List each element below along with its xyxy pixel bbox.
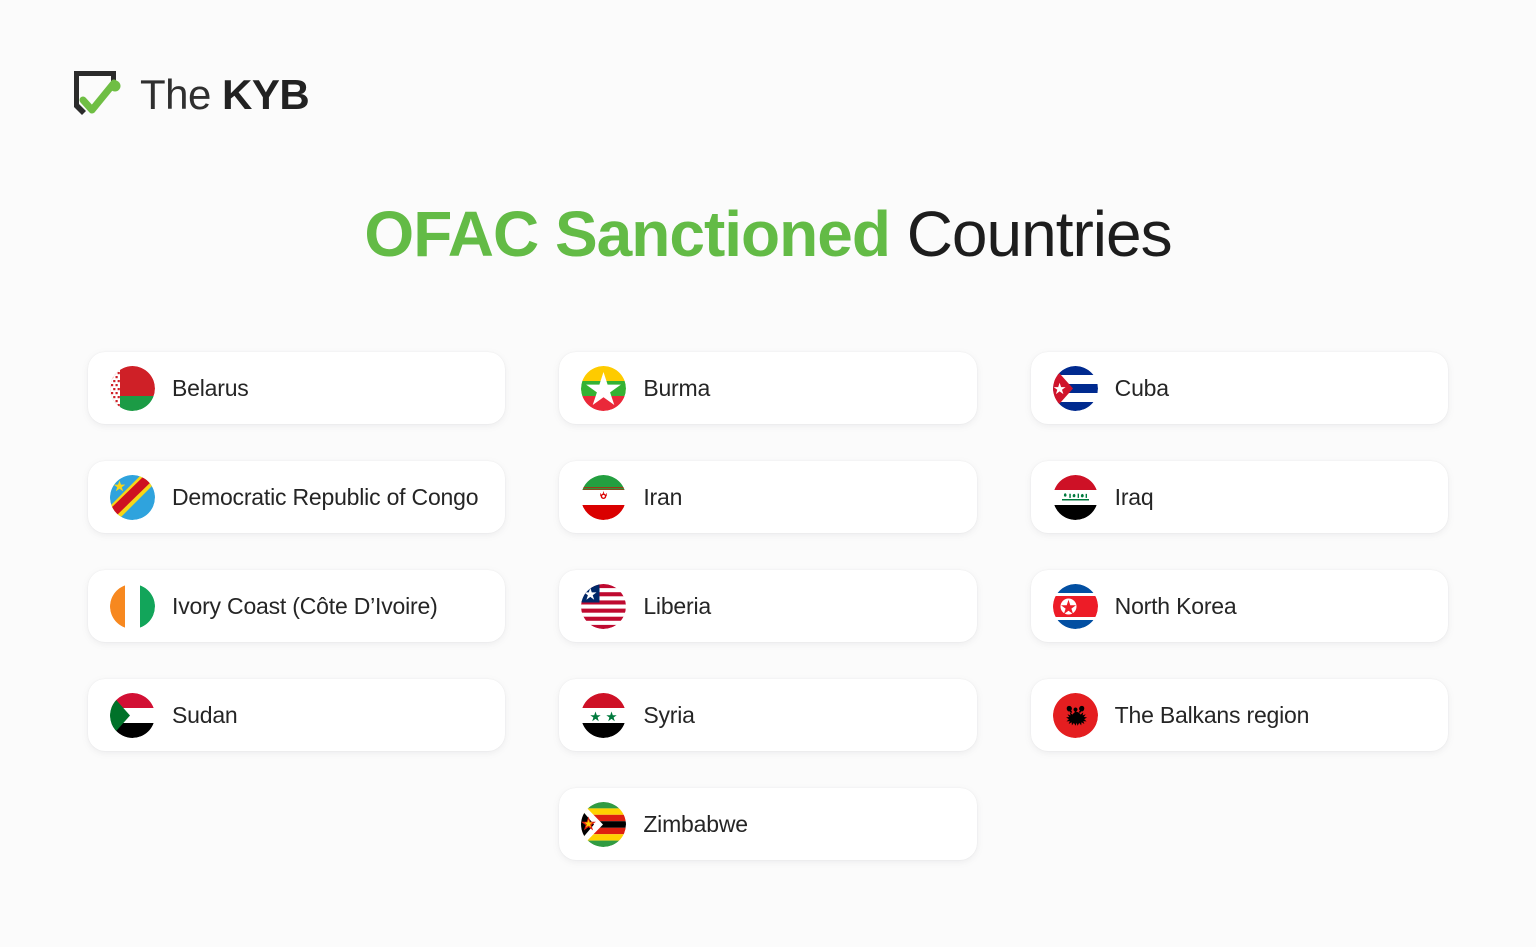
country-label: Democratic Republic of Congo [172,486,478,509]
country-label: Liberia [643,595,711,618]
country-label: Cuba [1115,377,1169,400]
country-label: Belarus [172,377,249,400]
flag-burma-icon [581,366,626,411]
country-card-ivory-coast[interactable]: Ivory Coast (Côte D’Ivoire) [88,570,505,642]
country-card-iraq[interactable]: Iraq [1031,461,1448,533]
country-card-syria[interactable]: Syria [559,679,976,751]
country-label: Iran [643,486,682,509]
country-card-liberia[interactable]: Liberia [559,570,976,642]
flag-zimbabwe-icon [581,802,626,847]
flag-liberia-icon [581,584,626,629]
country-label: Zimbabwe [643,813,748,836]
flag-cuba-icon [1053,366,1098,411]
brand-logo: The KYB [68,64,309,126]
flag-iran-icon [581,475,626,520]
country-card-balkans[interactable]: The Balkans region [1031,679,1448,751]
country-card-belarus[interactable]: Belarus [88,352,505,424]
country-label: The Balkans region [1115,704,1310,727]
flag-syria-icon [581,693,626,738]
flag-iraq-icon [1053,475,1098,520]
brand-name-bold: KYB [222,71,309,118]
country-column-2: Burma [559,352,976,860]
page-title: OFAC Sanctioned Countries [0,198,1536,272]
page-title-plain: Countries [890,198,1172,270]
country-label: Ivory Coast (Côte D’Ivoire) [172,595,438,618]
kyb-shield-check-icon [68,64,130,126]
flag-albania-icon [1053,693,1098,738]
country-card-north-korea[interactable]: North Korea [1031,570,1448,642]
country-board: Belarus Democratic Republic of Congo [88,352,1448,860]
country-card-burma[interactable]: Burma [559,352,976,424]
flag-ivory-coast-icon [110,584,155,629]
page-title-accent: OFAC Sanctioned [364,198,890,270]
flag-drc-icon [110,475,155,520]
country-label: Syria [643,704,694,727]
flag-sudan-icon [110,693,155,738]
country-label: Iraq [1115,486,1154,509]
country-card-iran[interactable]: Iran [559,461,976,533]
country-label: North Korea [1115,595,1237,618]
country-card-zimbabwe[interactable]: Zimbabwe [559,788,976,860]
country-card-drc[interactable]: Democratic Republic of Congo [88,461,505,533]
country-card-sudan[interactable]: Sudan [88,679,505,751]
country-column-3: Cuba [1031,352,1448,751]
country-label: Sudan [172,704,238,727]
brand-name: The KYB [140,74,309,116]
country-label: Burma [643,377,710,400]
flag-belarus-icon [110,366,155,411]
country-card-cuba[interactable]: Cuba [1031,352,1448,424]
infographic-page: The KYB OFAC Sanctioned Countries [0,0,1536,947]
brand-name-light: The [140,71,222,118]
country-column-1: Belarus Democratic Republic of Congo [88,352,505,751]
flag-north-korea-icon [1053,584,1098,629]
